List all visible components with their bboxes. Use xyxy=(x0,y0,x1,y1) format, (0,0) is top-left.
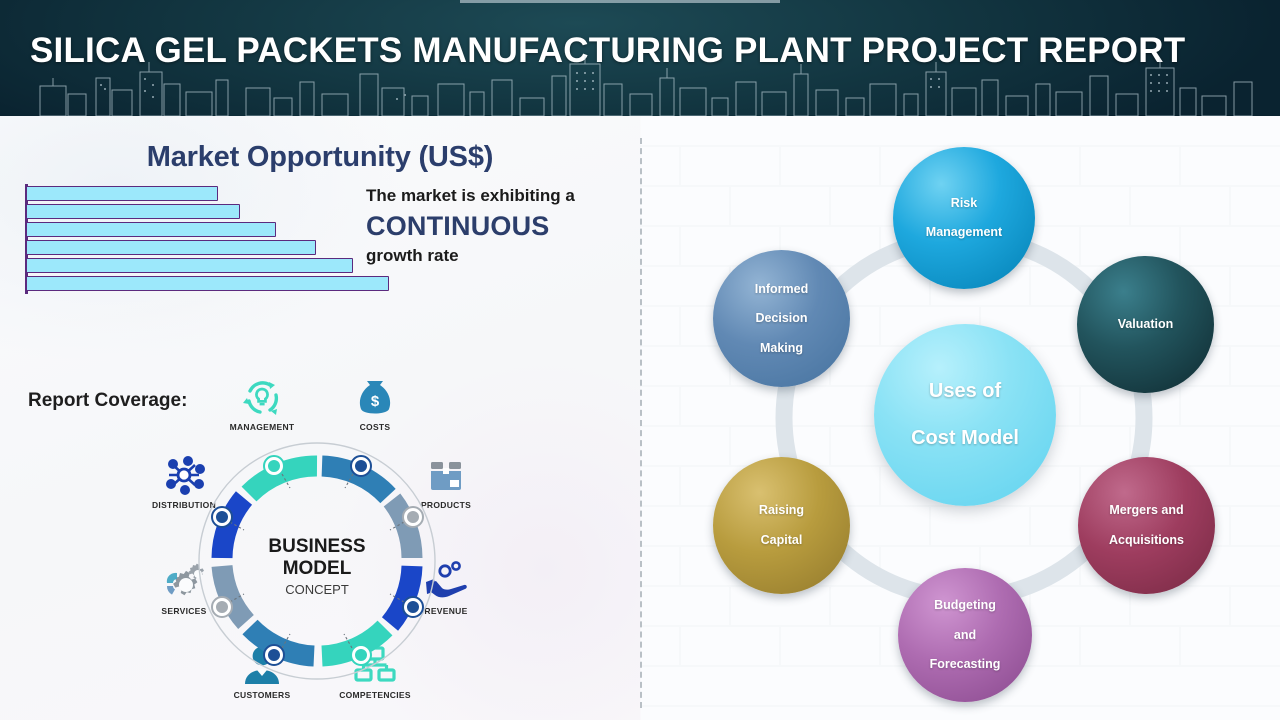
node-label-line: Cost Model xyxy=(905,427,1025,451)
business-model-line-1: BUSINESS xyxy=(268,536,365,557)
node-budgeting-and-forecasting: BudgetingandForecasting xyxy=(898,568,1032,702)
table-row xyxy=(26,186,218,201)
business-model-line-2: MODEL xyxy=(283,558,352,579)
business-model-diagram: BUSINESS MODEL CONCEPT xyxy=(130,436,505,701)
node-label-line: Informed xyxy=(749,282,814,297)
node-label-line: Valuation xyxy=(1112,317,1180,332)
coverage-item-costs: $ COSTS xyxy=(329,374,421,432)
node-label-line: Risk xyxy=(920,196,1008,211)
node-raising-capital: RaisingCapital xyxy=(713,457,850,594)
header-banner: SILICA GEL PACKETS MANUFACTURING PLANT P… xyxy=(0,0,1280,116)
slide-body: Market Opportunity (US$) The market is e… xyxy=(0,116,1280,720)
table-row xyxy=(26,240,316,255)
node-risk-management: RiskManagement xyxy=(893,147,1035,289)
table-row xyxy=(26,222,276,237)
svg-text:$: $ xyxy=(371,393,380,410)
table-row xyxy=(26,276,389,291)
recycle-lightbulb-icon xyxy=(216,374,308,420)
table-row xyxy=(26,258,353,273)
callout-line-2: CONTINUOUS xyxy=(366,209,636,243)
node-valuation: Valuation xyxy=(1077,256,1214,393)
node-center-uses-of-cost-model: Uses ofCost Model xyxy=(874,324,1056,506)
market-opportunity-bar-chart xyxy=(20,184,420,294)
node-informed-decision-making: InformedDecisionMaking xyxy=(713,250,850,387)
node-label-line: and xyxy=(924,628,1007,643)
node-label-line: Budgeting xyxy=(924,598,1007,613)
node-label-line: Forecasting xyxy=(924,657,1007,672)
uses-of-cost-model-diagram: RiskManagement Valuation Mergers andAcqu… xyxy=(640,116,1280,720)
callout-line-3: growth rate xyxy=(366,246,636,266)
report-coverage-label: Report Coverage: xyxy=(28,390,187,412)
callout-line-1: The market is exhibiting a xyxy=(366,186,636,206)
node-label-line: Mergers and xyxy=(1103,503,1190,518)
node-label-line: Making xyxy=(749,341,814,356)
node-label-line: Uses of xyxy=(905,380,1025,404)
node-label-line: Capital xyxy=(753,533,810,548)
coverage-item-label: MANAGEMENT xyxy=(216,422,308,432)
coverage-item-management: MANAGEMENT xyxy=(216,374,308,432)
node-label-line: Raising xyxy=(753,503,810,518)
header-accent-line xyxy=(460,0,780,3)
city-skyline-silhouette-icon xyxy=(0,54,1280,116)
table-row xyxy=(26,204,240,219)
growth-callout: The market is exhibiting a CONTINUOUS gr… xyxy=(366,186,636,266)
node-label-line: Decision xyxy=(749,311,814,326)
market-opportunity-title: Market Opportunity (US$) xyxy=(20,141,620,174)
node-mergers-and-acquisitions: Mergers andAcquisitions xyxy=(1078,457,1215,594)
business-model-line-3: CONCEPT xyxy=(285,582,349,597)
node-label-line: Management xyxy=(920,225,1008,240)
money-bag-icon: $ xyxy=(329,374,421,420)
coverage-item-label: COSTS xyxy=(329,422,421,432)
node-label-line: Acquisitions xyxy=(1103,533,1190,548)
